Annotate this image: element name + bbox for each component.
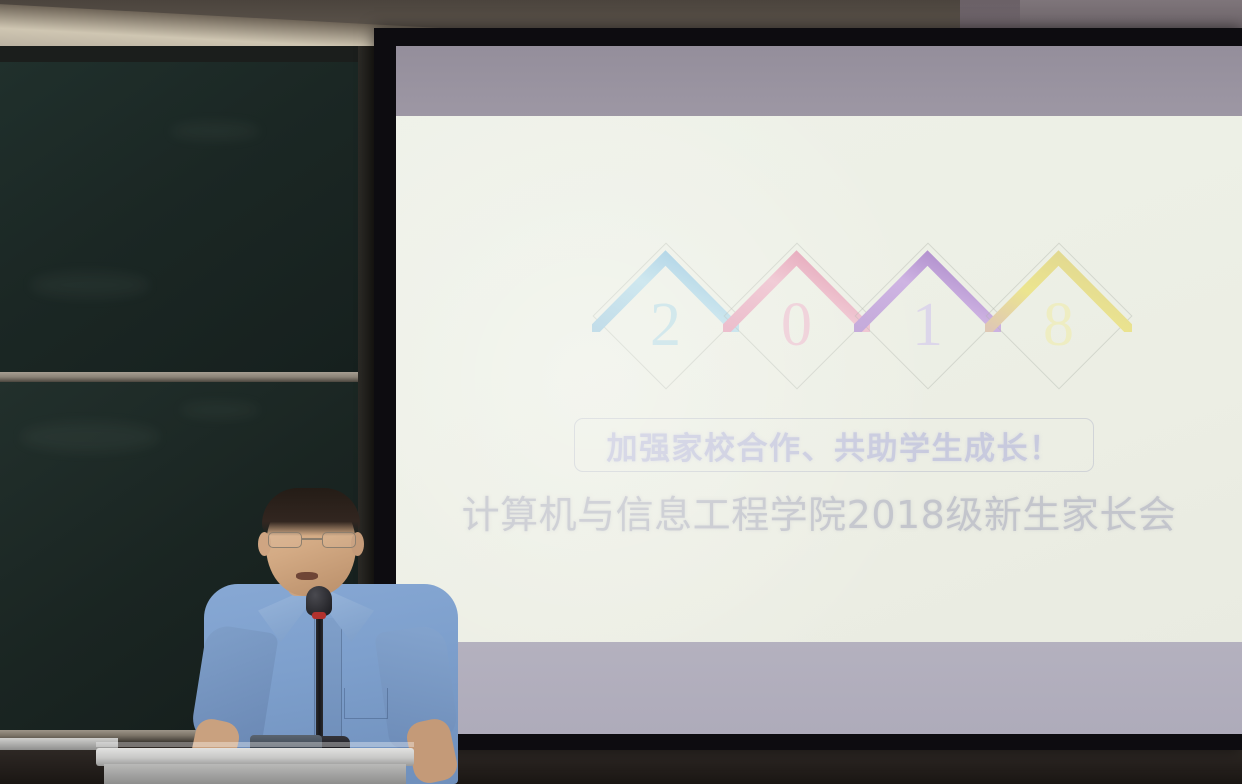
projection-screen-surface: 2 0 (396, 46, 1242, 734)
podium-body (104, 764, 406, 784)
chalk-smudge (30, 272, 150, 298)
slide-headline: 加强家校合作、共助学生成长！ (574, 421, 1094, 469)
slide-subline: 计算机与信息工程学院2018级新生家长会 (456, 484, 1182, 539)
screen-unlit-band-bottom (396, 642, 1242, 734)
projected-slide: 2 0 (396, 116, 1242, 642)
chalk-smudge (180, 402, 260, 418)
slide-logo-2018: 2 0 (592, 234, 1132, 404)
logo-diamond-2: 2 (592, 242, 739, 389)
chalk-smudge (20, 422, 160, 452)
screen-unlit-band-top (396, 46, 1242, 116)
logo-digit: 2 (592, 294, 739, 356)
logo-digit: 1 (854, 294, 1001, 356)
blackboard-upper-panel (0, 62, 362, 374)
shirt-pocket (344, 688, 388, 719)
eyeglasses-icon (266, 532, 358, 548)
logo-diamond-0: 0 (723, 242, 870, 389)
glasses-bridge (302, 538, 322, 540)
microphone-indicator (312, 612, 326, 619)
speaker-hair (262, 488, 360, 536)
podium-top-highlight (96, 742, 414, 747)
logo-digit: 0 (723, 294, 870, 356)
lens-right (322, 532, 356, 548)
chalk-smudge (170, 122, 260, 140)
microphone-stand (316, 600, 323, 750)
blackboard-chalk-rail (0, 372, 370, 382)
logo-digit: 8 (985, 294, 1132, 356)
speaker-mouth (296, 572, 318, 580)
logo-diamond-8: 8 (985, 242, 1132, 389)
lens-left (268, 532, 302, 548)
photo-scene: 2 0 (0, 0, 1242, 784)
logo-diamond-1: 1 (854, 242, 1001, 389)
